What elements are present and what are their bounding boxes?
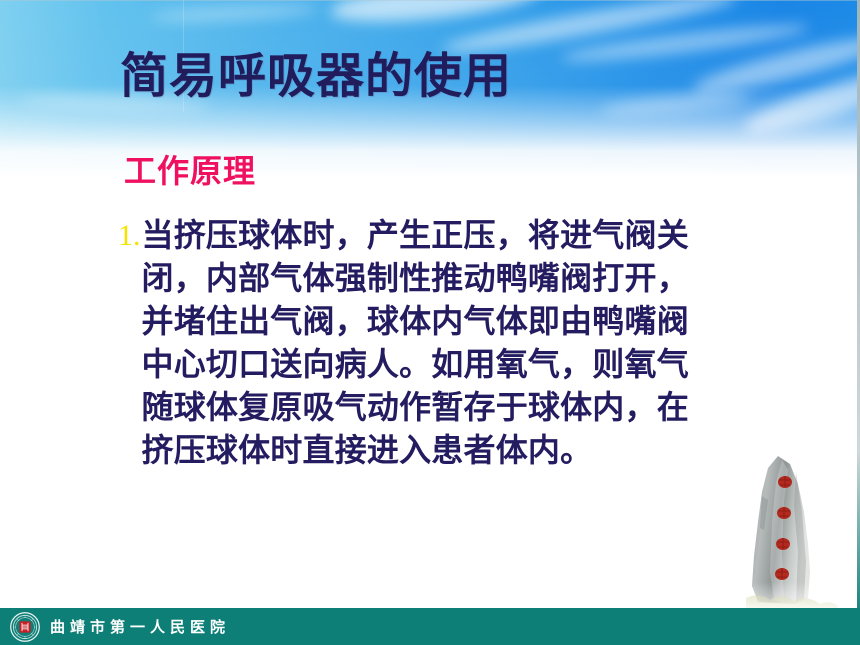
content-line: 闭，内部气体强制性推动鸭嘴阀打开，: [142, 257, 779, 300]
slide-top-edge: [0, 0, 860, 1]
content-line: 并堵住出气阀，球体内气体即由鸭嘴阀: [142, 300, 779, 343]
stone-monument-icon: [738, 452, 850, 612]
cloud-shape: [560, 19, 810, 67]
cloud-shape: [600, 89, 751, 118]
slide-title: 简易呼吸器的使用: [120, 48, 512, 105]
cloud-shape: [150, 2, 320, 25]
content-line: 随球体复原吸气动作暂存于球体内，在: [142, 386, 779, 429]
content-list: 1. 当挤压球体时，产生正压，将进气阀关 闭，内部气体强制性推动鸭嘴阀打开， 并…: [118, 214, 778, 472]
list-item-text: 当挤压球体时，产生正压，将进气阀关 闭，内部气体强制性推动鸭嘴阀打开， 并堵住出…: [142, 214, 779, 472]
footer-bar: 曲靖市第一人民医院: [0, 608, 860, 645]
section-heading: 工作原理: [124, 153, 256, 190]
content-line: 中心切口送向病人。如用氧气，则氧气: [142, 343, 779, 386]
presentation-slide: 简易呼吸器的使用 工作原理 1. 当挤压球体时，产生正压，将进气阀关 闭，内部气…: [0, 0, 860, 645]
cloud-shape: [329, 0, 541, 29]
cloud-shape: [690, 28, 860, 102]
list-item-marker: 1.: [118, 214, 142, 257]
footer-content: 曲靖市第一人民医院: [10, 608, 230, 645]
content-line: 挤压球体时直接进入患者体内。: [142, 429, 779, 472]
footer-organization-label: 曲靖市第一人民医院: [50, 616, 230, 637]
list-item: 1. 当挤压球体时，产生正压，将进气阀关 闭，内部气体强制性推动鸭嘴阀打开， 并…: [118, 214, 778, 472]
cloud-shape: [740, 59, 860, 143]
content-line: 当挤压球体时，产生正压，将进气阀关: [142, 214, 779, 257]
hospital-seal-icon: [10, 612, 40, 642]
